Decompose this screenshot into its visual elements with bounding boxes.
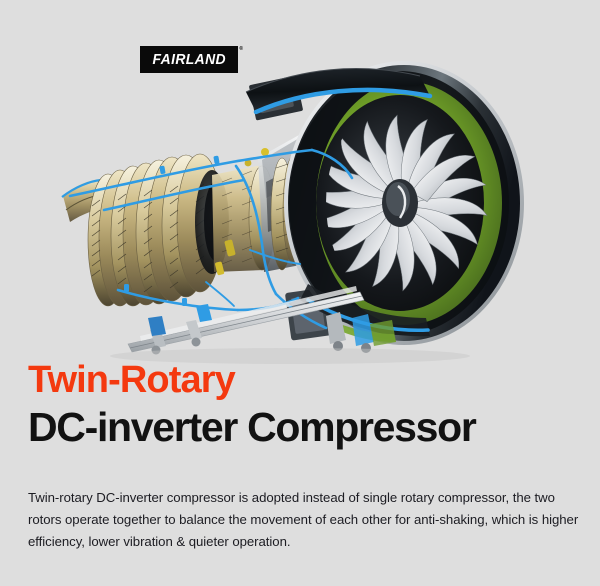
headline-group: Twin-Rotary DC-inverter Compressor [28, 358, 588, 451]
logo-wordmark: FAIRLAND [152, 52, 225, 68]
headline-line-2: DC-inverter Compressor [28, 404, 588, 451]
fairland-logo: FAIRLAND ® [140, 46, 238, 73]
trademark-icon: ® [239, 46, 243, 52]
product-feature-card: FAIRLAND ® [0, 0, 600, 586]
headline-line-1: Twin-Rotary [28, 358, 588, 402]
jet-engine-cutaway-svg [0, 0, 600, 370]
description-paragraph: Twin-rotary DC-inverter compressor is ad… [28, 487, 580, 553]
jet-engine-image [0, 0, 600, 370]
